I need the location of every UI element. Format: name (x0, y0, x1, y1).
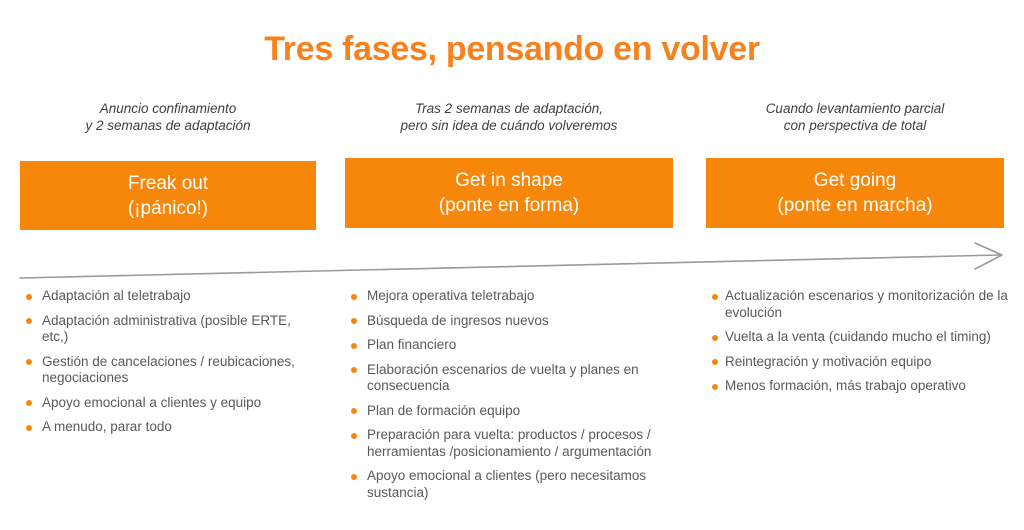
bullet-dot-icon (712, 294, 718, 300)
bullet-dot-icon (26, 425, 32, 431)
list-item: Apoyo emocional a clientes (pero necesit… (351, 468, 677, 501)
phase-bullet-list-3: Actualización escenarios y monitorizació… (712, 288, 1008, 403)
phase-caption-2: Tras 2 semanas de adaptación, pero sin i… (345, 100, 673, 134)
list-item: Plan financiero (351, 337, 677, 354)
bullet-dot-icon (26, 294, 32, 300)
bullet-dot-icon (351, 318, 357, 324)
phase-box-2-title-en: Get in shape (455, 168, 563, 193)
bullet-dot-icon (351, 343, 357, 349)
bullet-dot-icon (26, 400, 32, 406)
phase-caption-3-line-2: con perspectiva de total (706, 117, 1004, 134)
list-item-label: Plan de formación equipo (367, 403, 677, 420)
list-item: Actualización escenarios y monitorizació… (712, 288, 1008, 321)
bullet-dot-icon (712, 359, 718, 365)
list-item: Gestión de cancelaciones / reubicaciones… (26, 354, 316, 387)
list-item-label: Apoyo emocional a clientes y equipo (42, 395, 316, 412)
bullet-dot-icon (712, 384, 718, 390)
list-item: Adaptación al teletrabajo (26, 288, 316, 305)
page-title: Tres fases, pensando en volver (0, 30, 1024, 69)
bullet-dot-icon (351, 294, 357, 300)
phase-caption-2-line-2: pero sin idea de cuándo volveremos (345, 117, 673, 134)
bullet-dot-icon (26, 359, 32, 365)
bullet-dot-icon (351, 474, 357, 480)
list-item: Preparación para vuelta: productos / pro… (351, 427, 677, 460)
bullet-dot-icon (351, 367, 357, 373)
phase-box-1-title-es: (¡pánico!) (128, 196, 208, 221)
phase-box-1: Freak out (¡pánico!) (20, 161, 316, 230)
list-item-label: Búsqueda de ingresos nuevos (367, 313, 677, 330)
list-item-label: Actualización escenarios y monitorizació… (725, 288, 1008, 321)
list-item-label: Mejora operativa teletrabajo (367, 288, 677, 305)
list-item-label: A menudo, parar todo (42, 419, 316, 436)
bullet-dot-icon (351, 433, 357, 439)
list-item-label: Apoyo emocional a clientes (pero necesit… (367, 468, 677, 501)
bullet-dot-icon (26, 318, 32, 324)
list-item: Apoyo emocional a clientes y equipo (26, 395, 316, 412)
list-item-label: Gestión de cancelaciones / reubicaciones… (42, 354, 316, 387)
list-item: Vuelta a la venta (cuidando mucho el tim… (712, 329, 1008, 346)
bullet-dot-icon (351, 408, 357, 414)
list-item-label: Preparación para vuelta: productos / pro… (367, 427, 677, 460)
phase-caption-1-line-1: Anuncio confinamiento (20, 100, 316, 117)
list-item-label: Plan financiero (367, 337, 677, 354)
phase-caption-1: Anuncio confinamiento y 2 semanas de ada… (20, 100, 316, 134)
slide-canvas: Tres fases, pensando en volver Anuncio c… (0, 0, 1024, 530)
list-item-label: Menos formación, más trabajo operativo (725, 378, 1008, 395)
bullet-dot-icon (712, 335, 718, 341)
phase-box-3-title-en: Get going (814, 168, 896, 193)
phase-box-2-title-es: (ponte en forma) (439, 193, 579, 218)
list-item-label: Vuelta a la venta (cuidando mucho el tim… (725, 329, 1008, 346)
list-item: Adaptación administrativa (posible ERTE,… (26, 313, 316, 346)
list-item-label: Elaboración escenarios de vuelta y plane… (367, 362, 677, 395)
phase-box-2: Get in shape (ponte en forma) (345, 158, 673, 228)
list-item: Plan de formación equipo (351, 403, 677, 420)
phase-box-3-title-es: (ponte en marcha) (777, 193, 932, 218)
phase-bullet-list-1: Adaptación al teletrabajo Adaptación adm… (26, 288, 316, 444)
list-item-label: Reintegración y motivación equipo (725, 354, 1008, 371)
timeline-arrow-icon (0, 240, 1024, 288)
list-item: Elaboración escenarios de vuelta y plane… (351, 362, 677, 395)
phase-caption-3-line-1: Cuando levantamiento parcial (706, 100, 1004, 117)
list-item: Mejora operativa teletrabajo (351, 288, 677, 305)
list-item: Reintegración y motivación equipo (712, 354, 1008, 371)
phase-box-3: Get going (ponte en marcha) (706, 158, 1004, 228)
phase-caption-1-line-2: y 2 semanas de adaptación (20, 117, 316, 134)
phase-bullet-list-2: Mejora operativa teletrabajo Búsqueda de… (351, 288, 677, 509)
list-item-label: Adaptación administrativa (posible ERTE,… (42, 313, 316, 346)
list-item-label: Adaptación al teletrabajo (42, 288, 316, 305)
list-item: Búsqueda de ingresos nuevos (351, 313, 677, 330)
phase-caption-3: Cuando levantamiento parcial con perspec… (706, 100, 1004, 134)
phase-caption-2-line-1: Tras 2 semanas de adaptación, (345, 100, 673, 117)
list-item: Menos formación, más trabajo operativo (712, 378, 1008, 395)
phase-box-1-title-en: Freak out (128, 171, 208, 196)
list-item: A menudo, parar todo (26, 419, 316, 436)
